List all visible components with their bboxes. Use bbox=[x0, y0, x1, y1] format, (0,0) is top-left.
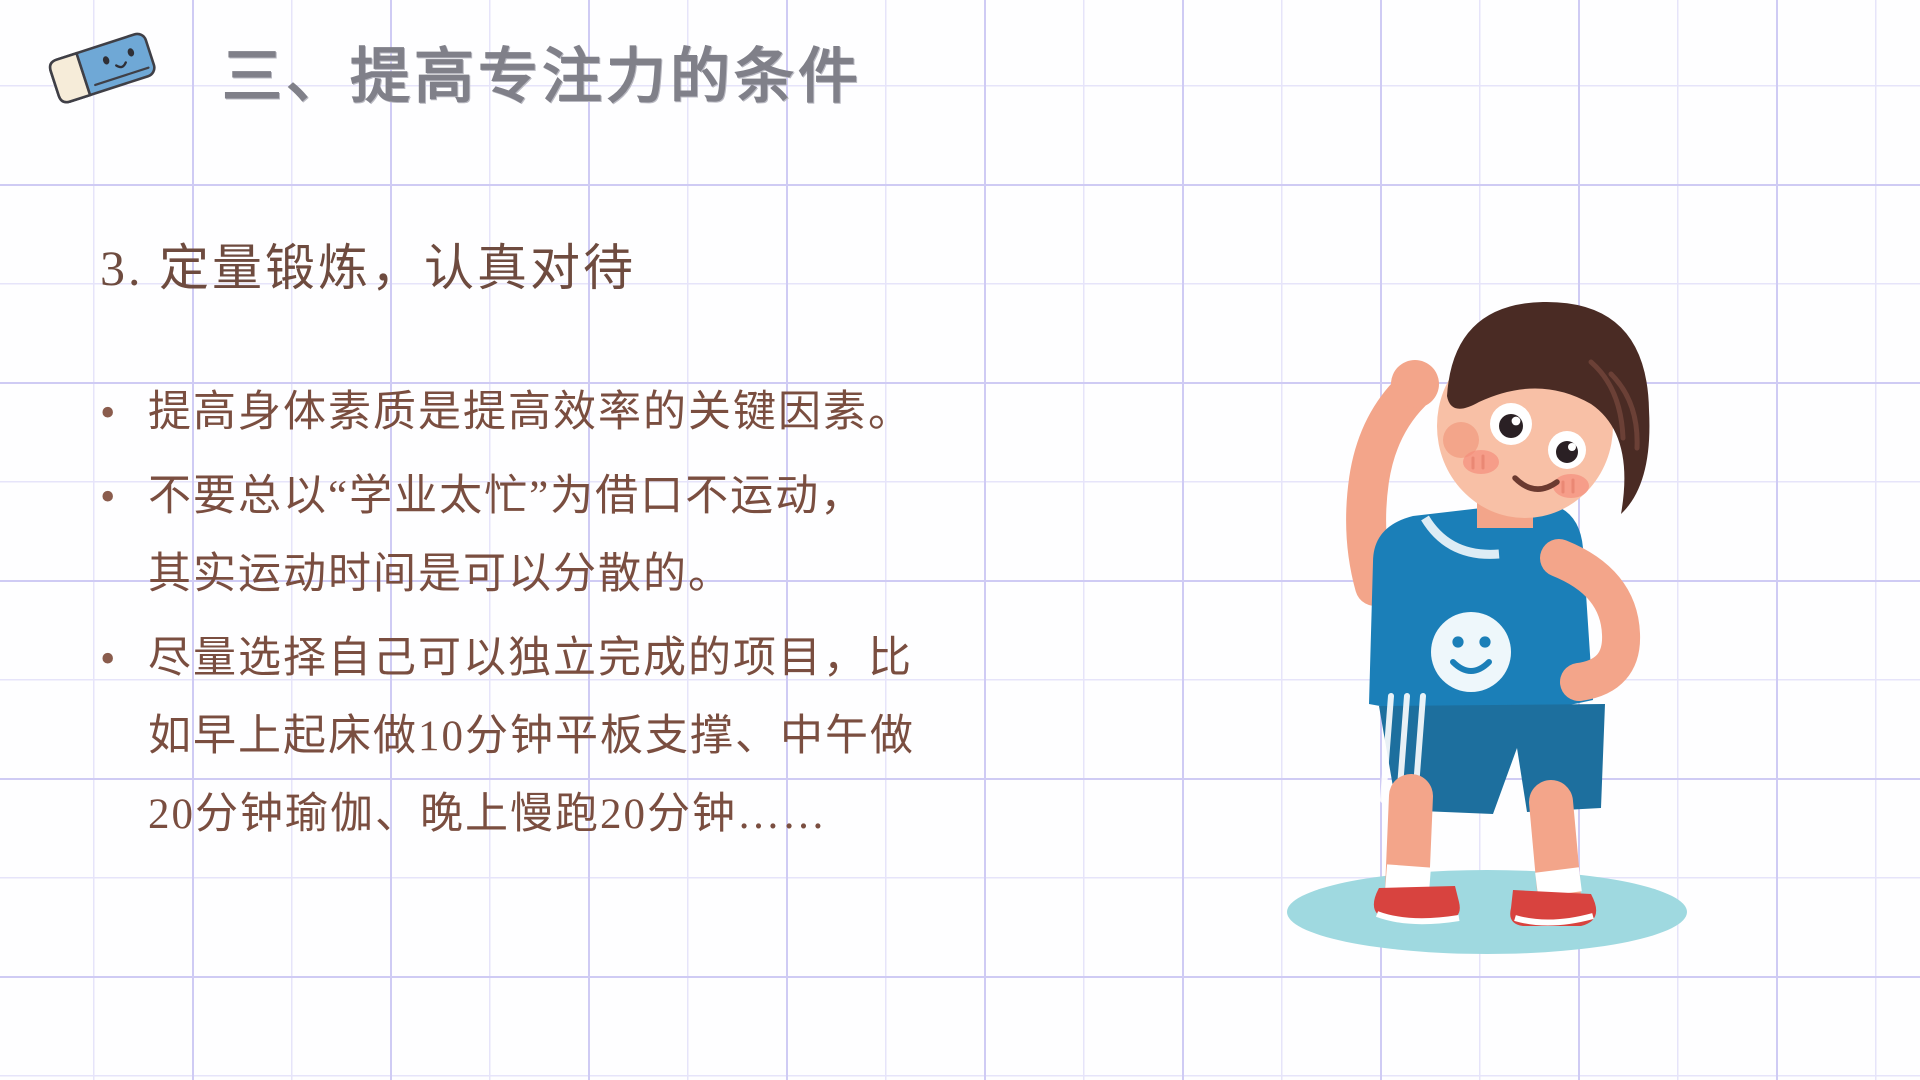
bullet-line: 尽量选择自己可以独立完成的项目，比 bbox=[148, 620, 1170, 698]
list-item: • 尽量选择自己可以独立完成的项目，比 如早上起床做10分钟平板支撑、中午做 2… bbox=[90, 620, 1170, 854]
bullet-line: 提高身体素质是提高效率的关键因素。 bbox=[148, 374, 1170, 452]
section-subtitle: 3. 定量锻炼，认真对待 bbox=[100, 228, 636, 300]
boy-stretching-illustration bbox=[1215, 300, 1775, 1000]
list-item: • 提高身体素质是提高效率的关键因素。 bbox=[90, 374, 1170, 452]
bullet-line: 不要总以“学业太忙”为借口不运动， bbox=[148, 458, 1170, 536]
bullet-text: 提高身体素质是提高效率的关键因素。 bbox=[148, 374, 1170, 452]
bullet-text: 不要总以“学业太忙”为借口不运动， 其实运动时间是可以分散的。 bbox=[148, 458, 1170, 614]
bullet-marker-icon: • bbox=[90, 620, 148, 698]
list-item: • 不要总以“学业太忙”为借口不运动， 其实运动时间是可以分散的。 bbox=[90, 458, 1170, 614]
bullet-list: • 提高身体素质是提高效率的关键因素。 • 不要总以“学业太忙”为借口不运动， … bbox=[90, 374, 1170, 860]
floor-shadow bbox=[1287, 870, 1687, 954]
bullet-marker-icon: • bbox=[90, 458, 148, 536]
bullet-text: 尽量选择自己可以独立完成的项目，比 如早上起床做10分钟平板支撑、中午做 20分… bbox=[148, 620, 1170, 854]
page-title: 三、提高专注力的条件 bbox=[222, 28, 862, 115]
bullet-marker-icon: • bbox=[90, 374, 148, 452]
bullet-line: 其实运动时间是可以分散的。 bbox=[148, 536, 1170, 614]
bullet-line: 如早上起床做10分钟平板支撑、中午做 bbox=[148, 698, 1170, 776]
bullet-line: 20分钟瑜伽、晚上慢跑20分钟…… bbox=[148, 776, 1170, 854]
eraser-icon bbox=[42, 24, 162, 110]
slide-canvas: 三、提高专注力的条件 3. 定量锻炼，认真对待 • 提高身体素质是提高效率的关键… bbox=[0, 0, 1920, 1080]
